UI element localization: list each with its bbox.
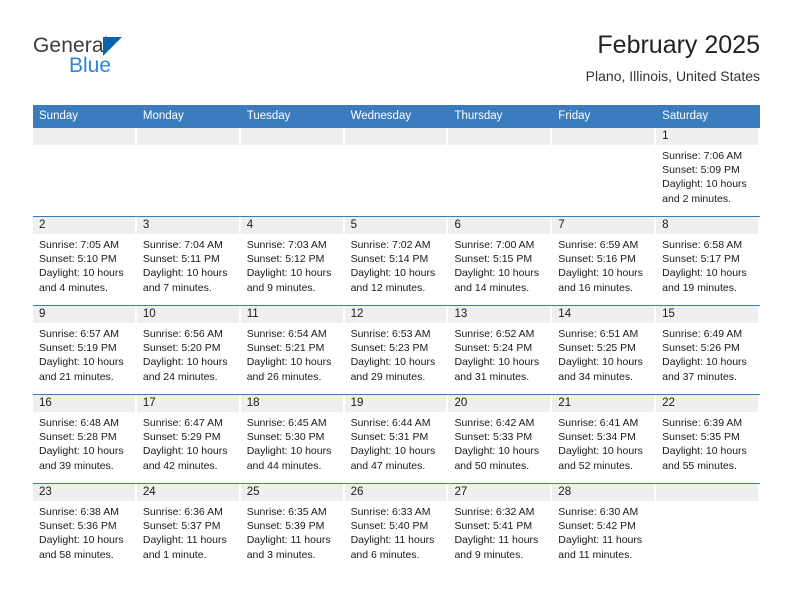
sunset-text: Sunset: 5:35 PM: [662, 430, 753, 444]
day-number: 15: [656, 306, 760, 323]
day-number: 25: [241, 484, 345, 501]
weekday-header-thursday: Thursday: [448, 105, 552, 127]
sunset-text: Sunset: 5:26 PM: [662, 341, 753, 355]
sunrise-text: Sunrise: 6:45 AM: [247, 416, 338, 430]
day-cell[interactable]: 4 Sunrise: 7:03 AM Sunset: 5:12 PM Dayli…: [241, 217, 345, 305]
day-cell[interactable]: 11 Sunrise: 6:54 AM Sunset: 5:21 PM Dayl…: [241, 306, 345, 394]
day-number: 17: [137, 395, 241, 412]
day-details: Sunrise: 7:02 AM Sunset: 5:14 PM Dayligh…: [345, 234, 449, 295]
day-details: Sunrise: 6:39 AM Sunset: 5:35 PM Dayligh…: [656, 412, 760, 473]
day-cell[interactable]: [33, 128, 137, 216]
day-cell[interactable]: 10 Sunrise: 6:56 AM Sunset: 5:20 PM Dayl…: [137, 306, 241, 394]
daylight-text: Daylight: 11 hours and 11 minutes.: [558, 533, 649, 561]
sunrise-text: Sunrise: 6:32 AM: [454, 505, 545, 519]
sunrise-text: Sunrise: 6:41 AM: [558, 416, 649, 430]
daylight-text: Daylight: 10 hours and 7 minutes.: [143, 266, 234, 294]
day-details: [137, 145, 241, 149]
day-number: 2: [33, 217, 137, 234]
location-subtitle: Plano, Illinois, United States: [586, 67, 760, 85]
sunset-text: Sunset: 5:37 PM: [143, 519, 234, 533]
calendar-page: General Blue February 2025 Plano, Illino…: [0, 0, 792, 612]
day-details: [656, 501, 760, 505]
daylight-text: Daylight: 10 hours and 19 minutes.: [662, 266, 753, 294]
general-blue-logo[interactable]: General Blue: [33, 34, 233, 86]
daylight-text: Daylight: 10 hours and 21 minutes.: [39, 355, 130, 383]
day-cell[interactable]: 13 Sunrise: 6:52 AM Sunset: 5:24 PM Dayl…: [448, 306, 552, 394]
sunset-text: Sunset: 5:25 PM: [558, 341, 649, 355]
sunset-text: Sunset: 5:12 PM: [247, 252, 338, 266]
day-cell[interactable]: [656, 484, 760, 572]
sunset-text: Sunset: 5:23 PM: [351, 341, 442, 355]
page-title: February 2025: [586, 30, 760, 61]
day-number: 14: [552, 306, 656, 323]
sunset-text: Sunset: 5:39 PM: [247, 519, 338, 533]
weekday-header-monday: Monday: [137, 105, 241, 127]
day-number: 26: [345, 484, 449, 501]
day-details: Sunrise: 6:35 AM Sunset: 5:39 PM Dayligh…: [241, 501, 345, 562]
sunset-text: Sunset: 5:36 PM: [39, 519, 130, 533]
sunrise-text: Sunrise: 6:35 AM: [247, 505, 338, 519]
sunset-text: Sunset: 5:30 PM: [247, 430, 338, 444]
sunset-text: Sunset: 5:31 PM: [351, 430, 442, 444]
daylight-text: Daylight: 10 hours and 47 minutes.: [351, 444, 442, 472]
day-details: Sunrise: 6:33 AM Sunset: 5:40 PM Dayligh…: [345, 501, 449, 562]
daylight-text: Daylight: 10 hours and 9 minutes.: [247, 266, 338, 294]
day-details: Sunrise: 6:47 AM Sunset: 5:29 PM Dayligh…: [137, 412, 241, 473]
day-cell[interactable]: 19 Sunrise: 6:44 AM Sunset: 5:31 PM Dayl…: [345, 395, 449, 483]
day-cell[interactable]: 16 Sunrise: 6:48 AM Sunset: 5:28 PM Dayl…: [33, 395, 137, 483]
day-cell[interactable]: [241, 128, 345, 216]
daylight-text: Daylight: 10 hours and 50 minutes.: [454, 444, 545, 472]
day-number: 1: [656, 128, 760, 145]
daylight-text: Daylight: 10 hours and 4 minutes.: [39, 266, 130, 294]
sunset-text: Sunset: 5:41 PM: [454, 519, 545, 533]
weekday-header-row: Sunday Monday Tuesday Wednesday Thursday…: [33, 105, 760, 127]
daylight-text: Daylight: 10 hours and 14 minutes.: [454, 266, 545, 294]
day-number: [552, 128, 656, 145]
week-row: 2 Sunrise: 7:05 AM Sunset: 5:10 PM Dayli…: [33, 216, 760, 305]
day-cell[interactable]: [552, 128, 656, 216]
daylight-text: Daylight: 10 hours and 34 minutes.: [558, 355, 649, 383]
weekday-header-friday: Friday: [552, 105, 656, 127]
day-details: Sunrise: 6:45 AM Sunset: 5:30 PM Dayligh…: [241, 412, 345, 473]
day-details: Sunrise: 6:32 AM Sunset: 5:41 PM Dayligh…: [448, 501, 552, 562]
sunrise-text: Sunrise: 6:59 AM: [558, 238, 649, 252]
day-details: Sunrise: 7:00 AM Sunset: 5:15 PM Dayligh…: [448, 234, 552, 295]
sunset-text: Sunset: 5:40 PM: [351, 519, 442, 533]
sunset-text: Sunset: 5:29 PM: [143, 430, 234, 444]
day-cell[interactable]: 21 Sunrise: 6:41 AM Sunset: 5:34 PM Dayl…: [552, 395, 656, 483]
day-number: [137, 128, 241, 145]
day-number: 13: [448, 306, 552, 323]
sunset-text: Sunset: 5:10 PM: [39, 252, 130, 266]
day-cell[interactable]: 28 Sunrise: 6:30 AM Sunset: 5:42 PM Dayl…: [552, 484, 656, 572]
week-row: 1 Sunrise: 7:06 AM Sunset: 5:09 PM Dayli…: [33, 127, 760, 216]
daylight-text: Daylight: 10 hours and 29 minutes.: [351, 355, 442, 383]
day-details: [448, 145, 552, 149]
day-cell[interactable]: 18 Sunrise: 6:45 AM Sunset: 5:30 PM Dayl…: [241, 395, 345, 483]
sunrise-text: Sunrise: 6:30 AM: [558, 505, 649, 519]
day-details: Sunrise: 6:36 AM Sunset: 5:37 PM Dayligh…: [137, 501, 241, 562]
logo-text-blue: Blue: [69, 54, 111, 78]
sunset-text: Sunset: 5:16 PM: [558, 252, 649, 266]
day-cell[interactable]: 25 Sunrise: 6:35 AM Sunset: 5:39 PM Dayl…: [241, 484, 345, 572]
day-details: Sunrise: 7:04 AM Sunset: 5:11 PM Dayligh…: [137, 234, 241, 295]
day-details: Sunrise: 7:05 AM Sunset: 5:10 PM Dayligh…: [33, 234, 137, 295]
day-number: 4: [241, 217, 345, 234]
daylight-text: Daylight: 10 hours and 39 minutes.: [39, 444, 130, 472]
day-number: [345, 128, 449, 145]
day-cell[interactable]: 7 Sunrise: 6:59 AM Sunset: 5:16 PM Dayli…: [552, 217, 656, 305]
sunset-text: Sunset: 5:42 PM: [558, 519, 649, 533]
day-cell[interactable]: 24 Sunrise: 6:36 AM Sunset: 5:37 PM Dayl…: [137, 484, 241, 572]
sunrise-text: Sunrise: 6:42 AM: [454, 416, 545, 430]
weekday-header-wednesday: Wednesday: [345, 105, 449, 127]
day-details: [241, 145, 345, 149]
sunrise-text: Sunrise: 7:00 AM: [454, 238, 545, 252]
day-number: 7: [552, 217, 656, 234]
daylight-text: Daylight: 10 hours and 55 minutes.: [662, 444, 753, 472]
daylight-text: Daylight: 11 hours and 9 minutes.: [454, 533, 545, 561]
sunrise-text: Sunrise: 6:58 AM: [662, 238, 753, 252]
day-details: Sunrise: 6:53 AM Sunset: 5:23 PM Dayligh…: [345, 323, 449, 384]
daylight-text: Daylight: 10 hours and 37 minutes.: [662, 355, 753, 383]
sunrise-text: Sunrise: 6:53 AM: [351, 327, 442, 341]
day-details: Sunrise: 6:54 AM Sunset: 5:21 PM Dayligh…: [241, 323, 345, 384]
sunset-text: Sunset: 5:24 PM: [454, 341, 545, 355]
day-number: [656, 484, 760, 501]
day-details: Sunrise: 6:41 AM Sunset: 5:34 PM Dayligh…: [552, 412, 656, 473]
sunset-text: Sunset: 5:14 PM: [351, 252, 442, 266]
day-details: [552, 145, 656, 149]
day-number: 5: [345, 217, 449, 234]
day-details: Sunrise: 6:51 AM Sunset: 5:25 PM Dayligh…: [552, 323, 656, 384]
daylight-text: Daylight: 10 hours and 44 minutes.: [247, 444, 338, 472]
day-details: [33, 145, 137, 149]
day-number: 6: [448, 217, 552, 234]
day-details: Sunrise: 7:03 AM Sunset: 5:12 PM Dayligh…: [241, 234, 345, 295]
daylight-text: Daylight: 10 hours and 2 minutes.: [662, 177, 753, 205]
day-number: 22: [656, 395, 760, 412]
week-row: 16 Sunrise: 6:48 AM Sunset: 5:28 PM Dayl…: [33, 394, 760, 483]
title-block: February 2025 Plano, Illinois, United St…: [586, 30, 760, 85]
day-number: 16: [33, 395, 137, 412]
sunrise-text: Sunrise: 6:47 AM: [143, 416, 234, 430]
day-cell[interactable]: 3 Sunrise: 7:04 AM Sunset: 5:11 PM Dayli…: [137, 217, 241, 305]
day-number: 24: [137, 484, 241, 501]
day-details: Sunrise: 6:42 AM Sunset: 5:33 PM Dayligh…: [448, 412, 552, 473]
day-number: [33, 128, 137, 145]
daylight-text: Daylight: 10 hours and 12 minutes.: [351, 266, 442, 294]
day-number: 10: [137, 306, 241, 323]
daylight-text: Daylight: 11 hours and 3 minutes.: [247, 533, 338, 561]
day-details: Sunrise: 6:58 AM Sunset: 5:17 PM Dayligh…: [656, 234, 760, 295]
sunset-text: Sunset: 5:17 PM: [662, 252, 753, 266]
daylight-text: Daylight: 10 hours and 52 minutes.: [558, 444, 649, 472]
sunrise-text: Sunrise: 7:02 AM: [351, 238, 442, 252]
day-cell[interactable]: 15 Sunrise: 6:49 AM Sunset: 5:26 PM Dayl…: [656, 306, 760, 394]
day-cell[interactable]: 5 Sunrise: 7:02 AM Sunset: 5:14 PM Dayli…: [345, 217, 449, 305]
sunrise-text: Sunrise: 7:03 AM: [247, 238, 338, 252]
day-cell[interactable]: 9 Sunrise: 6:57 AM Sunset: 5:19 PM Dayli…: [33, 306, 137, 394]
sunrise-text: Sunrise: 6:36 AM: [143, 505, 234, 519]
daylight-text: Daylight: 11 hours and 6 minutes.: [351, 533, 442, 561]
sunrise-text: Sunrise: 7:06 AM: [662, 149, 753, 163]
day-details: Sunrise: 7:06 AM Sunset: 5:09 PM Dayligh…: [656, 145, 760, 206]
sunrise-text: Sunrise: 6:57 AM: [39, 327, 130, 341]
daylight-text: Daylight: 11 hours and 1 minute.: [143, 533, 234, 561]
sunrise-text: Sunrise: 7:04 AM: [143, 238, 234, 252]
day-number: [448, 128, 552, 145]
day-number: [241, 128, 345, 145]
sunset-text: Sunset: 5:34 PM: [558, 430, 649, 444]
day-cell[interactable]: 27 Sunrise: 6:32 AM Sunset: 5:41 PM Dayl…: [448, 484, 552, 572]
day-details: Sunrise: 6:57 AM Sunset: 5:19 PM Dayligh…: [33, 323, 137, 384]
calendar-grid: Sunday Monday Tuesday Wednesday Thursday…: [33, 105, 760, 572]
day-number: 3: [137, 217, 241, 234]
daylight-text: Daylight: 10 hours and 58 minutes.: [39, 533, 130, 561]
sunrise-text: Sunrise: 6:51 AM: [558, 327, 649, 341]
day-number: 11: [241, 306, 345, 323]
day-details: Sunrise: 6:56 AM Sunset: 5:20 PM Dayligh…: [137, 323, 241, 384]
daylight-text: Daylight: 10 hours and 42 minutes.: [143, 444, 234, 472]
daylight-text: Daylight: 10 hours and 31 minutes.: [454, 355, 545, 383]
sunrise-text: Sunrise: 6:48 AM: [39, 416, 130, 430]
sunset-text: Sunset: 5:19 PM: [39, 341, 130, 355]
sunrise-text: Sunrise: 7:05 AM: [39, 238, 130, 252]
day-cell[interactable]: 8 Sunrise: 6:58 AM Sunset: 5:17 PM Dayli…: [656, 217, 760, 305]
day-number: 23: [33, 484, 137, 501]
day-details: Sunrise: 6:52 AM Sunset: 5:24 PM Dayligh…: [448, 323, 552, 384]
day-cell[interactable]: [448, 128, 552, 216]
weekday-header-tuesday: Tuesday: [241, 105, 345, 127]
page-header: General Blue February 2025 Plano, Illino…: [33, 30, 760, 92]
week-row: 23 Sunrise: 6:38 AM Sunset: 5:36 PM Dayl…: [33, 483, 760, 572]
sunset-text: Sunset: 5:21 PM: [247, 341, 338, 355]
sunrise-text: Sunrise: 6:49 AM: [662, 327, 753, 341]
day-number: 8: [656, 217, 760, 234]
weekday-header-sunday: Sunday: [33, 105, 137, 127]
day-cell[interactable]: 6 Sunrise: 7:00 AM Sunset: 5:15 PM Dayli…: [448, 217, 552, 305]
sunset-text: Sunset: 5:11 PM: [143, 252, 234, 266]
day-cell[interactable]: 12 Sunrise: 6:53 AM Sunset: 5:23 PM Dayl…: [345, 306, 449, 394]
week-row: 9 Sunrise: 6:57 AM Sunset: 5:19 PM Dayli…: [33, 305, 760, 394]
day-cell[interactable]: 1 Sunrise: 7:06 AM Sunset: 5:09 PM Dayli…: [656, 128, 760, 216]
day-cell[interactable]: [345, 128, 449, 216]
day-details: [345, 145, 449, 149]
day-details: Sunrise: 6:44 AM Sunset: 5:31 PM Dayligh…: [345, 412, 449, 473]
day-number: 20: [448, 395, 552, 412]
day-number: 28: [552, 484, 656, 501]
sunrise-text: Sunrise: 6:54 AM: [247, 327, 338, 341]
day-details: Sunrise: 6:49 AM Sunset: 5:26 PM Dayligh…: [656, 323, 760, 384]
sunset-text: Sunset: 5:09 PM: [662, 163, 753, 177]
day-cell[interactable]: 26 Sunrise: 6:33 AM Sunset: 5:40 PM Dayl…: [345, 484, 449, 572]
day-details: Sunrise: 6:48 AM Sunset: 5:28 PM Dayligh…: [33, 412, 137, 473]
sunrise-text: Sunrise: 6:56 AM: [143, 327, 234, 341]
day-details: Sunrise: 6:59 AM Sunset: 5:16 PM Dayligh…: [552, 234, 656, 295]
sunrise-text: Sunrise: 6:52 AM: [454, 327, 545, 341]
day-number: 19: [345, 395, 449, 412]
sunrise-text: Sunrise: 6:44 AM: [351, 416, 442, 430]
day-cell[interactable]: 22 Sunrise: 6:39 AM Sunset: 5:35 PM Dayl…: [656, 395, 760, 483]
day-cell[interactable]: 14 Sunrise: 6:51 AM Sunset: 5:25 PM Dayl…: [552, 306, 656, 394]
day-cell[interactable]: 2 Sunrise: 7:05 AM Sunset: 5:10 PM Dayli…: [33, 217, 137, 305]
daylight-text: Daylight: 10 hours and 24 minutes.: [143, 355, 234, 383]
day-cell[interactable]: 23 Sunrise: 6:38 AM Sunset: 5:36 PM Dayl…: [33, 484, 137, 572]
day-cell[interactable]: [137, 128, 241, 216]
day-cell[interactable]: 20 Sunrise: 6:42 AM Sunset: 5:33 PM Dayl…: [448, 395, 552, 483]
sunrise-text: Sunrise: 6:39 AM: [662, 416, 753, 430]
day-number: 21: [552, 395, 656, 412]
day-cell[interactable]: 17 Sunrise: 6:47 AM Sunset: 5:29 PM Dayl…: [137, 395, 241, 483]
day-number: 12: [345, 306, 449, 323]
daylight-text: Daylight: 10 hours and 16 minutes.: [558, 266, 649, 294]
sunset-text: Sunset: 5:28 PM: [39, 430, 130, 444]
day-details: Sunrise: 6:38 AM Sunset: 5:36 PM Dayligh…: [33, 501, 137, 562]
sunrise-text: Sunrise: 6:38 AM: [39, 505, 130, 519]
sunset-text: Sunset: 5:20 PM: [143, 341, 234, 355]
sunset-text: Sunset: 5:15 PM: [454, 252, 545, 266]
day-number: 18: [241, 395, 345, 412]
sunrise-text: Sunrise: 6:33 AM: [351, 505, 442, 519]
sunset-text: Sunset: 5:33 PM: [454, 430, 545, 444]
day-number: 9: [33, 306, 137, 323]
daylight-text: Daylight: 10 hours and 26 minutes.: [247, 355, 338, 383]
day-number: 27: [448, 484, 552, 501]
day-details: Sunrise: 6:30 AM Sunset: 5:42 PM Dayligh…: [552, 501, 656, 562]
weekday-header-saturday: Saturday: [656, 105, 760, 127]
